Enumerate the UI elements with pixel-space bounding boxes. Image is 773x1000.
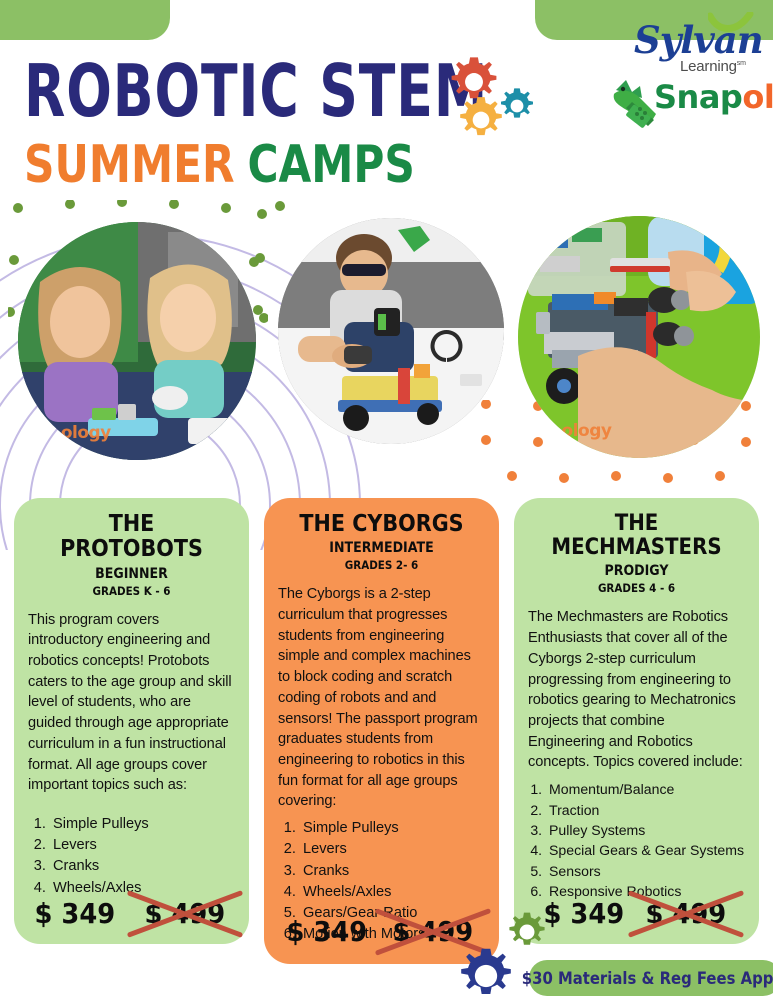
- list-item: Cranks: [50, 856, 235, 877]
- price-row: $ 349 $ 499: [514, 897, 759, 930]
- price-current: $ 349: [286, 915, 367, 948]
- price-original-struck: $ 499: [388, 915, 476, 948]
- sylvan-tm-mark: sm: [737, 60, 746, 67]
- price-original-struck: $ 499: [641, 897, 729, 930]
- card-grades: GRADES 2- 6: [288, 558, 474, 572]
- list-item: Pulley Systems: [546, 820, 745, 840]
- brand-logos: Sylvan Learningsm Snapology: [612, 12, 772, 130]
- card-description: This program covers introductory enginee…: [28, 610, 235, 796]
- snapology-part2: ology: [742, 78, 773, 116]
- list-item: Sensors: [546, 861, 745, 881]
- price-row: $ 349 $ 499: [14, 897, 249, 930]
- card-topic-list: Simple Pulleys Levers Cranks Wheels/Axle…: [50, 814, 235, 899]
- card-grades: GRADES 4 - 6: [539, 581, 734, 595]
- top-green-bar-left: [0, 0, 170, 40]
- price-current: $ 349: [543, 897, 624, 930]
- program-card-mechmasters[interactable]: THE MECHMASTERS PRODIGY GRADES 4 - 6 The…: [514, 498, 759, 944]
- card-title: THE PROTOBOTS: [38, 512, 224, 563]
- list-item: Cranks: [300, 861, 485, 882]
- price-original-struck: $ 499: [140, 897, 228, 930]
- card-grades: GRADES K - 6: [38, 584, 224, 598]
- snapology-part1: Snap: [654, 78, 742, 116]
- list-item: Levers: [300, 839, 485, 860]
- price-row: $ 349 $ 499: [264, 915, 499, 948]
- card-level: INTERMEDIATE: [288, 540, 474, 556]
- card-description: The Mechmasters are Robotics Enthusiasts…: [528, 607, 745, 773]
- materials-fee-text: $30 Materials & Reg Fees Apply: [522, 969, 773, 988]
- sylvan-learning-label: Learning: [680, 58, 737, 75]
- list-item: Levers: [50, 835, 235, 856]
- price-current: $ 349: [34, 897, 115, 930]
- sylvan-learning-text: Learningsm: [680, 58, 746, 75]
- sylvan-logo-text: Sylvan: [634, 18, 763, 62]
- program-card-cyborgs[interactable]: THE CYBORGS INTERMEDIATE GRADES 2- 6 The…: [264, 498, 499, 964]
- materials-fee-banner: $30 Materials & Reg Fees Apply: [529, 960, 773, 996]
- list-item: Traction: [546, 800, 745, 820]
- card-title: THE MECHMASTERS: [539, 512, 734, 560]
- card-description: The Cyborgs is a 2-step curriculum that …: [278, 584, 485, 812]
- list-item: Simple Pulleys: [300, 818, 485, 839]
- photo-hands-building-robot: ology: [518, 216, 760, 458]
- photo-boy-with-robot-car: [278, 218, 504, 444]
- gear-yellow-icon: [455, 94, 507, 146]
- card-level: BEGINNER: [38, 566, 224, 582]
- gear-navy-bottom-icon: [455, 945, 517, 1000]
- page-title: ROBOTIC STEM: [24, 50, 488, 134]
- card-level: PRODIGY: [539, 563, 734, 579]
- list-item: Wheels/Axles: [300, 882, 485, 903]
- photo-watermark: ology: [562, 421, 612, 441]
- list-item: Special Gears & Gear Systems: [546, 840, 745, 860]
- card-topic-list: Momentum/Balance Traction Pulley Systems…: [546, 779, 745, 902]
- list-item: Momentum/Balance: [546, 779, 745, 799]
- snapology-logo-text: Snapology: [654, 78, 773, 116]
- list-item: Simple Pulleys: [50, 814, 235, 835]
- photo-girls-with-robotics: ology: [18, 222, 256, 460]
- flyer-page: ROBOTIC STEM SUMMERCAMPS: [0, 0, 773, 1000]
- card-title: THE CYBORGS: [288, 512, 474, 537]
- program-card-protobots[interactable]: THE PROTOBOTS BEGINNER GRADES K - 6 This…: [14, 498, 249, 944]
- photo-watermark: ology: [61, 423, 111, 443]
